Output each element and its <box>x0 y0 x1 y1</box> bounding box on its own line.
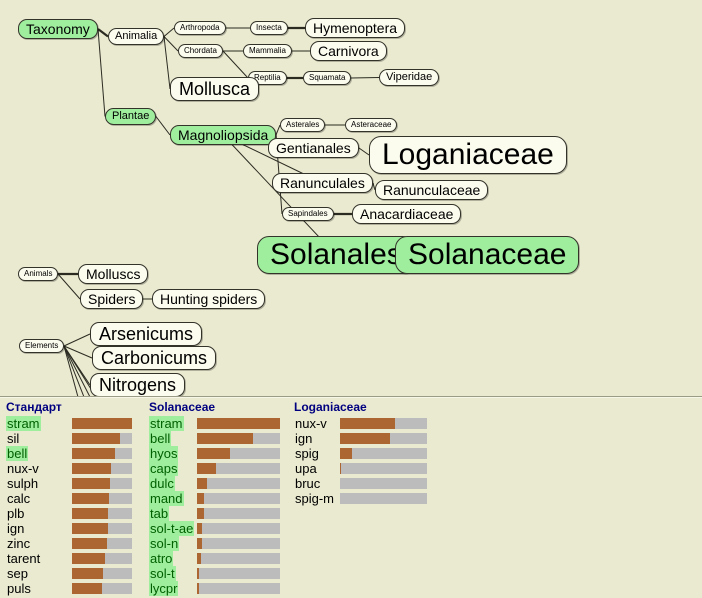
remedy-bar-track <box>340 478 427 489</box>
remedy-row[interactable]: sep <box>3 566 136 581</box>
remedy-label: zinc <box>6 536 31 551</box>
remedy-bar-track <box>72 493 132 504</box>
remedy-bar-track <box>340 463 427 474</box>
tree-edge-elements-overflow-2 <box>64 346 90 397</box>
remedy-bar-track <box>197 493 280 504</box>
remedy-label: mand <box>149 491 184 506</box>
remedy-label: sol-t <box>149 566 176 581</box>
remedy-row[interactable]: stram <box>146 416 284 431</box>
remedy-label: hyos <box>149 446 178 461</box>
tree-node-spiders[interactable]: Spiders <box>80 289 143 309</box>
remedy-label: spig <box>294 446 320 461</box>
remedy-row[interactable]: tarent <box>3 551 136 566</box>
remedy-bar-track <box>340 493 427 504</box>
remedy-bar-track <box>197 463 280 474</box>
tree-node-animalia[interactable]: Animalia <box>108 28 164 45</box>
remedy-row[interactable]: mand <box>146 491 284 506</box>
tree-node-carbonicums[interactable]: Carbonicums <box>92 346 216 370</box>
remedy-bar-track <box>72 448 132 459</box>
tree-edge-animalia-mollusca <box>164 37 170 90</box>
tree-node-anacardiaceae[interactable]: Anacardiaceae <box>352 204 461 224</box>
remedy-bar-fill <box>197 553 201 564</box>
remedy-bar-fill <box>197 568 199 579</box>
remedy-row[interactable]: upa <box>291 461 431 476</box>
remedy-column-title: Loganiaceae <box>294 400 431 414</box>
tree-node-ranunculales[interactable]: Ranunculales <box>272 173 373 193</box>
remedy-row[interactable]: spig-m <box>291 491 431 506</box>
remedy-bar-track <box>72 478 132 489</box>
remedy-bar-track <box>72 553 132 564</box>
tree-edge-animalia-arthropoda <box>164 28 174 37</box>
remedy-label: upa <box>294 461 318 476</box>
remedy-bar-track <box>197 553 280 564</box>
tree-node-animals[interactable]: Animals <box>18 267 58 281</box>
tree-node-asteraceae[interactable]: Asteraceae <box>345 118 397 132</box>
remedy-label: nux-v <box>6 461 40 476</box>
remedy-row[interactable]: ign <box>3 521 136 536</box>
tree-edge-elements-overflow-1 <box>64 346 84 397</box>
remedy-row[interactable]: stram <box>3 416 136 431</box>
tree-node-elements[interactable]: Elements <box>19 339 64 353</box>
remedy-bar-fill <box>197 538 202 549</box>
remedy-bar-fill <box>340 448 352 459</box>
remedy-column-1: Solanaceaestrambellhyoscapsdulcmandtabso… <box>146 400 284 598</box>
remedy-bar-fill <box>72 418 132 429</box>
tree-node-chordata[interactable]: Chordata <box>178 44 223 58</box>
remedy-row[interactable]: calc <box>3 491 136 506</box>
remedy-bar-track <box>197 418 280 429</box>
tree-edge-gentianales-loganiaceae <box>359 148 369 155</box>
tree-node-arthropoda[interactable]: Arthropoda <box>174 21 226 35</box>
remedy-bar-fill <box>197 583 199 594</box>
tree-node-squamata[interactable]: Squamata <box>303 71 351 85</box>
remedy-label: sulph <box>6 476 39 491</box>
remedy-bar-track <box>197 448 280 459</box>
remedy-row[interactable]: nux-v <box>3 461 136 476</box>
remedy-label: sol-t-ae <box>149 521 194 536</box>
remedy-bar-fill <box>197 493 204 504</box>
tree-edge-elements-arsenicums <box>64 334 90 346</box>
tree-edge-taxonomy-animalia <box>98 29 108 37</box>
remedy-bar-fill <box>72 583 102 594</box>
remedy-label: sep <box>6 566 29 581</box>
tree-node-hymenoptera[interactable]: Hymenoptera <box>305 18 405 38</box>
remedy-bar-track <box>340 418 427 429</box>
remedy-bar-track <box>197 508 280 519</box>
remedy-bar-fill <box>72 568 103 579</box>
remedy-row[interactable]: sulph <box>3 476 136 491</box>
remedy-row[interactable]: spig <box>291 446 431 461</box>
remedy-label: nux-v <box>294 416 328 431</box>
tree-node-mollusca[interactable]: Mollusca <box>170 77 259 101</box>
tree-node-molluscs[interactable]: Molluscs <box>78 264 148 284</box>
remedy-label: stram <box>149 416 184 431</box>
remedy-row[interactable]: bell <box>146 431 284 446</box>
remedy-bar-track <box>340 433 427 444</box>
tree-node-asterales[interactable]: Asterales <box>280 118 325 132</box>
remedy-row[interactable]: hyos <box>146 446 284 461</box>
remedy-label: bruc <box>294 476 321 491</box>
remedy-label: puls <box>6 581 32 596</box>
remedy-lists-panel[interactable]: Стандартstramsilbellnux-vsulphcalcplbign… <box>0 398 702 598</box>
remedy-bar-track <box>72 568 132 579</box>
remedy-bar-track <box>197 523 280 534</box>
remedy-bar-fill <box>197 463 216 474</box>
remedy-bar-fill <box>72 478 110 489</box>
remedy-bar-fill <box>72 553 105 564</box>
tree-node-solanales[interactable]: Solanales <box>257 236 415 274</box>
remedy-bar-track <box>197 433 280 444</box>
remedy-bar-track <box>197 538 280 549</box>
remedy-bar-fill <box>197 418 280 429</box>
tree-edge-elements-nitrogens <box>64 346 90 385</box>
tree-edge-animals-spiders <box>58 274 80 299</box>
remedy-bar-track <box>72 433 132 444</box>
tree-node-hunting-spiders[interactable]: Hunting spiders <box>152 289 265 309</box>
remedy-bar-track <box>72 583 132 594</box>
tree-edge-animalia-chordata <box>164 37 178 52</box>
remedy-bar-fill <box>72 523 108 534</box>
remedy-bar-track <box>197 583 280 594</box>
remedy-label: ign <box>294 431 313 446</box>
remedy-bar-fill <box>72 448 115 459</box>
tree-node-gentianales[interactable]: Gentianales <box>268 138 359 158</box>
remedy-label: sol-n <box>149 536 179 551</box>
tree-edge-taxonomy-plantae <box>98 29 105 117</box>
remedy-bar-track <box>340 448 427 459</box>
remedy-label: bell <box>149 431 171 446</box>
remedy-label: sil <box>6 431 20 446</box>
remedy-bar-track <box>72 538 132 549</box>
tree-node-loganiaceae[interactable]: Loganiaceae <box>369 136 567 174</box>
remedy-label: lycpr <box>149 581 178 596</box>
remedy-label: atro <box>149 551 173 566</box>
remedy-column-2: Loganiaceaenux-vignspigupabrucspig-m <box>291 400 431 506</box>
remedy-row[interactable]: atro <box>146 551 284 566</box>
remedy-bar-fill <box>72 463 111 474</box>
tree-node-arsenicums[interactable]: Arsenicums <box>90 322 202 346</box>
remedy-bar-fill <box>72 538 107 549</box>
remedy-bar-fill <box>340 418 395 429</box>
remedy-row[interactable]: bell <box>3 446 136 461</box>
remedy-row[interactable]: sol-n <box>146 536 284 551</box>
remedy-bar-fill <box>197 478 207 489</box>
remedy-bar-fill <box>197 508 204 519</box>
remedy-row[interactable]: sol-t-ae <box>146 521 284 536</box>
taxonomy-tree-canvas[interactable]: TaxonomyAnimaliaArthropodaInsectaHymenop… <box>0 0 702 397</box>
remedy-label: calc <box>6 491 31 506</box>
remedy-bar-fill <box>72 433 120 444</box>
remedy-label: bell <box>6 446 28 461</box>
remedy-bar-track <box>72 463 132 474</box>
remedy-bar-track <box>197 568 280 579</box>
remedy-row[interactable]: sol-t <box>146 566 284 581</box>
remedy-bar-track <box>72 508 132 519</box>
remedy-bar-fill <box>197 523 202 534</box>
remedy-label: caps <box>149 461 178 476</box>
remedy-row[interactable]: lycpr <box>146 581 284 596</box>
tree-edge-squamata-viperidae <box>351 78 379 79</box>
remedy-row[interactable]: puls <box>3 581 136 596</box>
tree-node-insecta[interactable]: Insecta <box>250 21 288 35</box>
tree-node-sapindales[interactable]: Sapindales <box>282 207 334 221</box>
remedy-row[interactable]: dulc <box>146 476 284 491</box>
tree-node-magnoliopsida[interactable]: Magnoliopsida <box>170 125 276 145</box>
remedy-row[interactable]: bruc <box>291 476 431 491</box>
remedy-bar-fill <box>197 433 253 444</box>
remedy-bar-track <box>72 523 132 534</box>
tree-node-viperidae[interactable]: Viperidae <box>379 69 439 86</box>
remedy-row[interactable]: ign <box>291 431 431 446</box>
remedy-row[interactable]: tab <box>146 506 284 521</box>
remedy-row[interactable]: caps <box>146 461 284 476</box>
tree-node-carnivora[interactable]: Carnivora <box>310 41 387 61</box>
remedy-bar-track <box>197 478 280 489</box>
tree-node-ranunculaceae[interactable]: Ranunculaceae <box>375 180 488 200</box>
remedy-row[interactable]: nux-v <box>291 416 431 431</box>
tree-node-mammalia[interactable]: Mammalia <box>243 44 292 58</box>
remedy-label: plb <box>6 506 25 521</box>
tree-node-plantae[interactable]: Plantae <box>105 108 156 125</box>
remedy-bar-fill <box>197 448 230 459</box>
tree-node-taxonomy[interactable]: Taxonomy <box>18 19 98 39</box>
remedy-label: tab <box>149 506 169 521</box>
remedy-row[interactable]: sil <box>3 431 136 446</box>
remedy-bar-fill <box>72 493 109 504</box>
remedy-column-title: Solanaceae <box>149 400 284 414</box>
tree-edge-elements-carbonicums <box>64 346 92 358</box>
tree-edge-elements-overflow-0 <box>64 346 78 397</box>
remedy-label: tarent <box>6 551 41 566</box>
tree-node-nitrogens[interactable]: Nitrogens <box>90 373 185 397</box>
remedy-bar-track <box>72 418 132 429</box>
remedy-label: stram <box>6 416 41 431</box>
remedy-label: dulc <box>149 476 175 491</box>
remedy-bar-fill <box>340 433 390 444</box>
remedy-label: ign <box>6 521 25 536</box>
remedy-row[interactable]: plb <box>3 506 136 521</box>
tree-edge-plantae-magnoliopsida <box>156 117 170 136</box>
remedy-column-title: Стандарт <box>6 400 136 414</box>
remedy-label: spig-m <box>294 491 335 506</box>
remedy-bar-fill <box>340 463 341 474</box>
tree-node-solanaceae[interactable]: Solanaceae <box>395 236 579 274</box>
remedy-column-0: Стандартstramsilbellnux-vsulphcalcplbign… <box>3 400 136 598</box>
remedy-bar-fill <box>72 508 108 519</box>
remedy-row[interactable]: zinc <box>3 536 136 551</box>
